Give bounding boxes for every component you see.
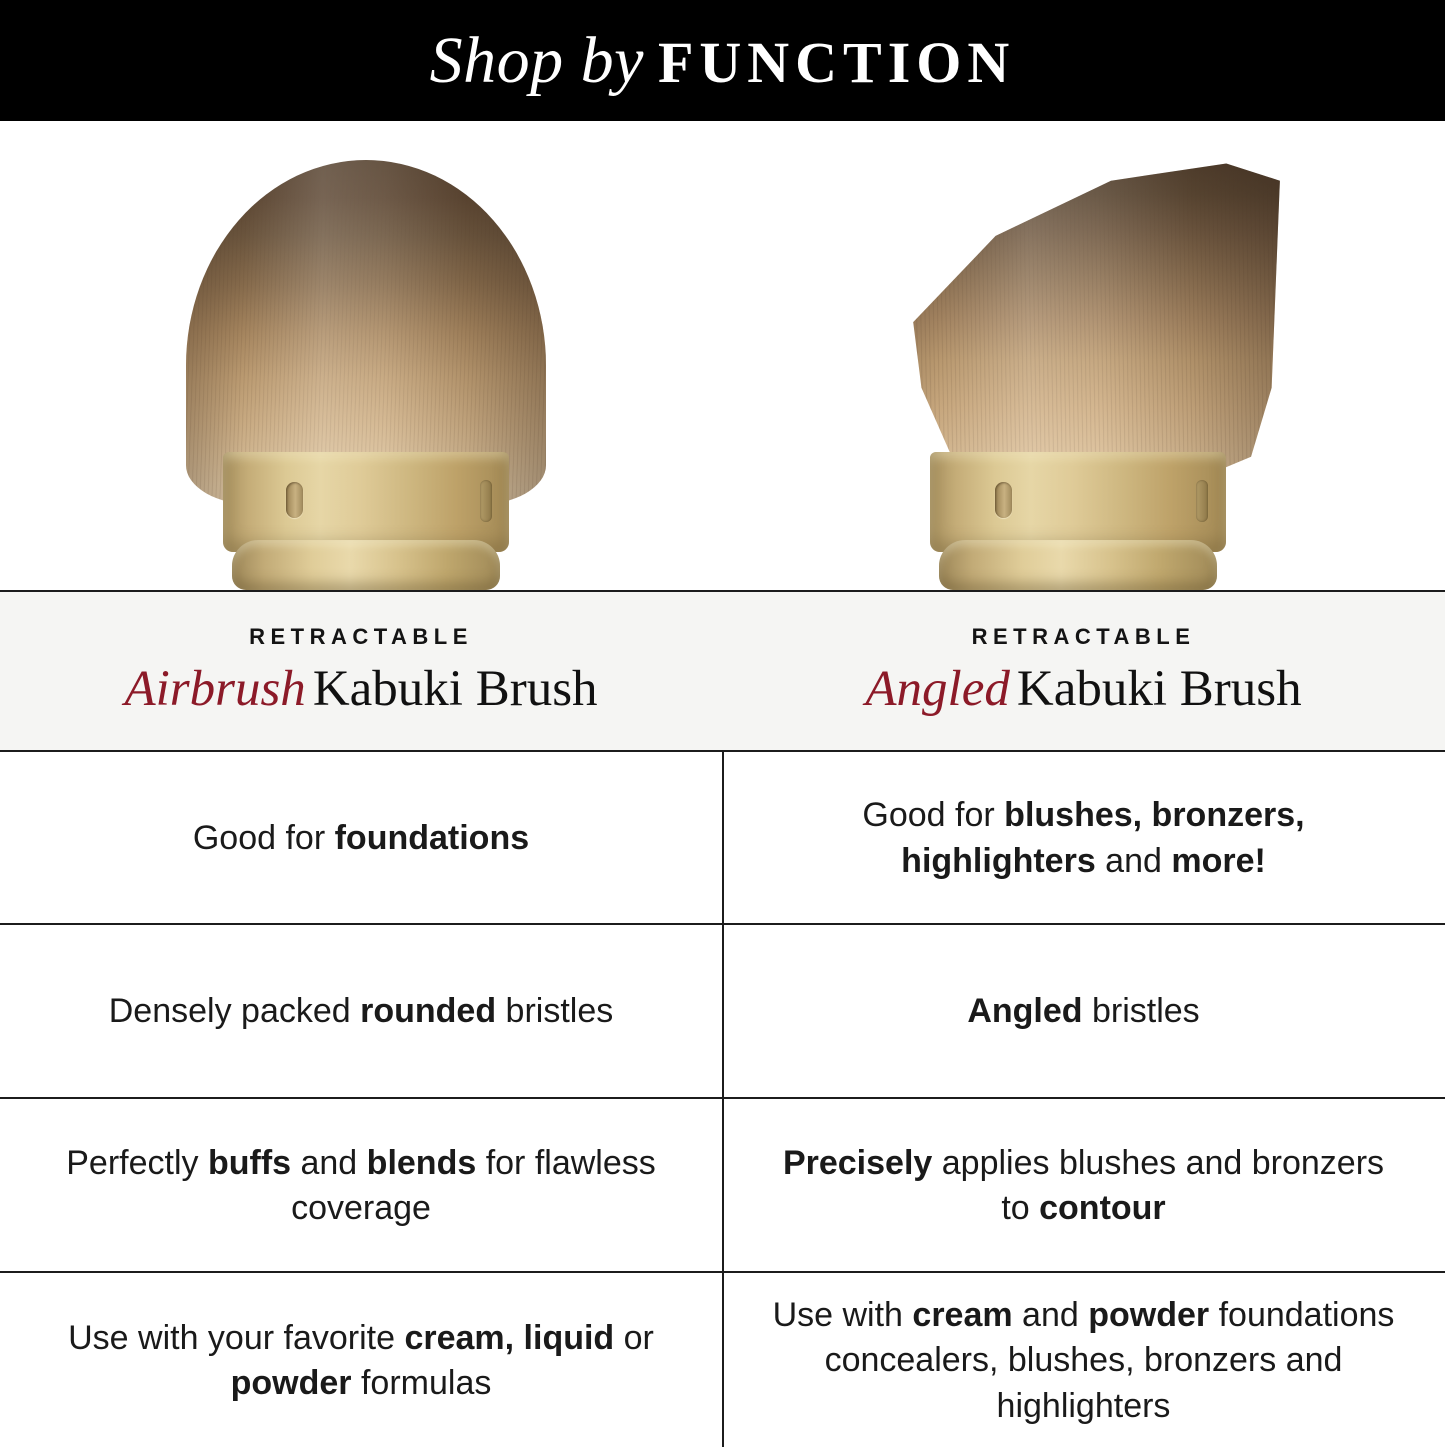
- product-photo-area: [0, 121, 1445, 590]
- header-banner: Shop byFUNCTION: [0, 0, 1445, 121]
- shop-by-function-infographic: Shop byFUNCTION: [0, 0, 1445, 1445]
- feature-text: Precisely applies blushes and bronzers t…: [768, 1141, 1399, 1231]
- feature-text: Use with your favorite cream, liquid or …: [46, 1316, 676, 1406]
- ferrule-base-collar: [232, 540, 501, 590]
- ferrule-base-collar: [939, 540, 1217, 590]
- product-header-left[interactable]: RETRACTABLE AirbrushKabuki Brush: [0, 592, 722, 750]
- ferrule-band: [930, 452, 1226, 552]
- page-title-caps: FUNCTION: [658, 30, 1015, 95]
- gold-ferrule: [223, 452, 509, 590]
- feature-text: Densely packed rounded bristles: [109, 989, 614, 1034]
- feature-text: Good for blushes, bronzers, highlighters…: [768, 793, 1399, 883]
- feature-cell-right: Angled bristles: [722, 927, 1445, 1097]
- page-title: Shop byFUNCTION: [430, 28, 1016, 94]
- ferrule-slot-icon: [286, 482, 303, 518]
- product-name-rest: Kabuki Brush: [313, 661, 598, 717]
- product-header-right[interactable]: RETRACTABLE AngledKabuki Brush: [722, 592, 1445, 750]
- angled-kabuki-brush-image: [872, 160, 1284, 590]
- feature-cell-left: Use with your favorite cream, liquid or …: [0, 1275, 722, 1447]
- feature-text: Angled bristles: [967, 989, 1199, 1034]
- page-title-script: Shop by: [430, 24, 658, 97]
- feature-row: Perfectly buffs and blends for flawless …: [0, 1101, 1445, 1273]
- ferrule-tab-icon: [480, 480, 492, 522]
- feature-row: Good for foundations Good for blushes, b…: [0, 754, 1445, 925]
- gold-ferrule: [930, 452, 1226, 590]
- product-eyebrow: RETRACTABLE: [972, 624, 1196, 650]
- airbrush-kabuki-brush-image: [186, 160, 546, 590]
- product-name-accent: Airbrush: [124, 661, 312, 717]
- comparison-table: RETRACTABLE AirbrushKabuki Brush RETRACT…: [0, 590, 1445, 1445]
- feature-text: Perfectly buffs and blends for flawless …: [46, 1141, 676, 1231]
- feature-cell-left: Good for foundations: [0, 754, 722, 923]
- feature-cell-right: Precisely applies blushes and bronzers t…: [722, 1101, 1445, 1271]
- product-eyebrow: RETRACTABLE: [249, 624, 473, 650]
- feature-cell-left: Perfectly buffs and blends for flawless …: [0, 1101, 722, 1271]
- feature-cell-right: Good for blushes, bronzers, highlighters…: [722, 754, 1445, 923]
- product-name: AirbrushKabuki Brush: [124, 662, 597, 717]
- feature-row: Use with your favorite cream, liquid or …: [0, 1275, 1445, 1447]
- feature-text: Good for foundations: [193, 816, 529, 861]
- feature-text: Use with cream and powder foundations co…: [768, 1293, 1399, 1429]
- ferrule-band: [223, 452, 509, 552]
- product-name: AngledKabuki Brush: [865, 662, 1301, 717]
- feature-cell-left: Densely packed rounded bristles: [0, 927, 722, 1097]
- ferrule-slot-icon: [995, 482, 1012, 518]
- product-title-row: RETRACTABLE AirbrushKabuki Brush RETRACT…: [0, 592, 1445, 752]
- product-name-accent: Angled: [865, 661, 1016, 717]
- ferrule-tab-icon: [1196, 480, 1208, 522]
- feature-row: Densely packed rounded bristles Angled b…: [0, 927, 1445, 1099]
- product-name-rest: Kabuki Brush: [1017, 661, 1302, 717]
- feature-cell-right: Use with cream and powder foundations co…: [722, 1275, 1445, 1447]
